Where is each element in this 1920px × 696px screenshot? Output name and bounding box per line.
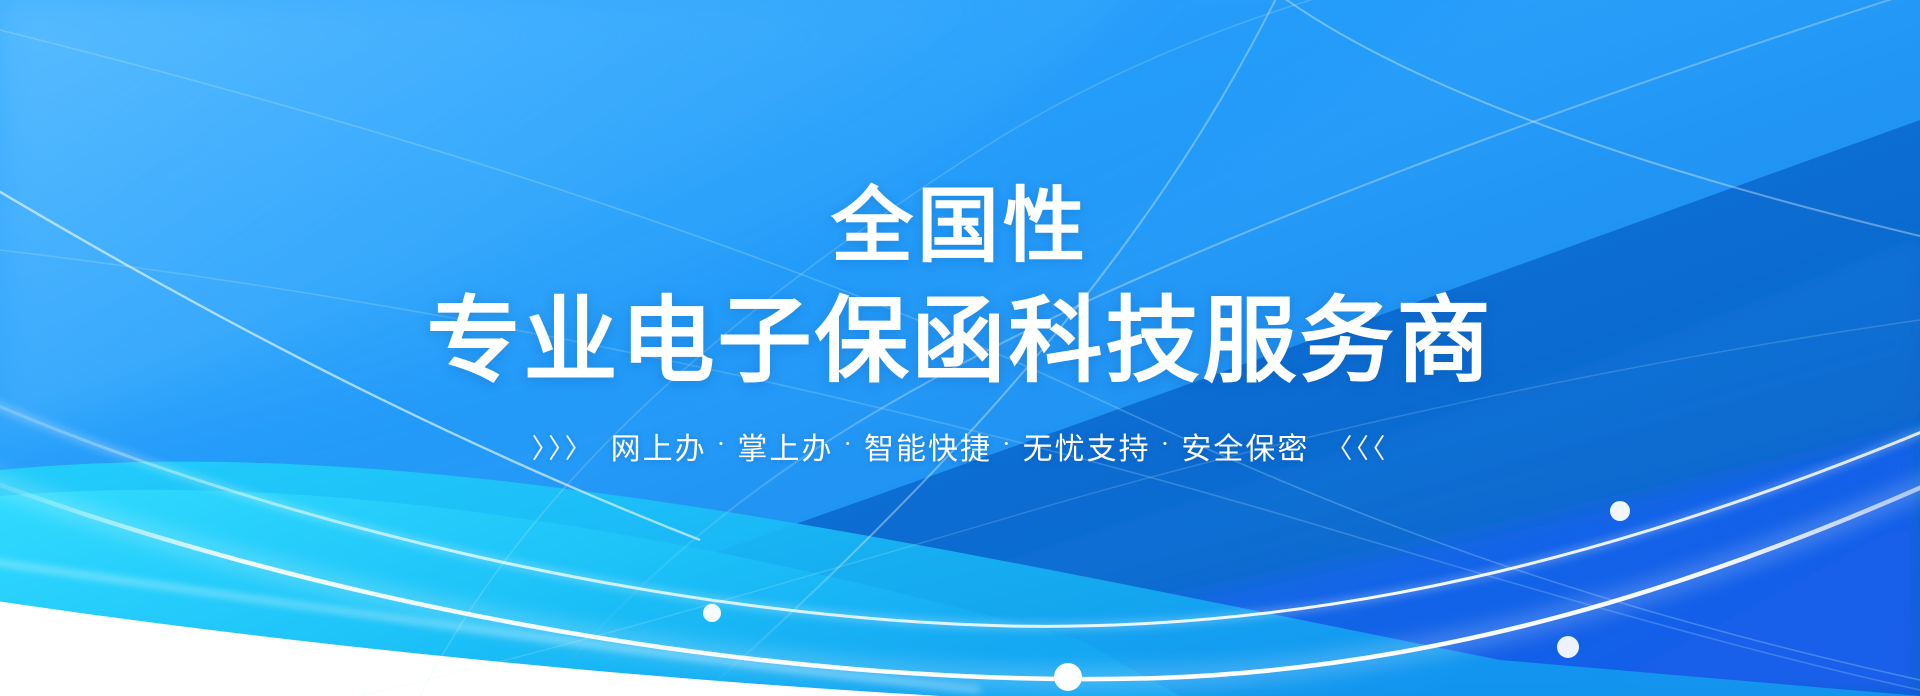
hero-banner: 全国性 专业电子保函科技服务商 〉〉〉 网上办 · 掌上办 · 智能快捷 · 无… — [0, 0, 1920, 696]
curve-dot-right — [1610, 501, 1630, 521]
curve-dot-center — [1054, 663, 1082, 691]
curve-dot-left — [703, 604, 721, 622]
curve-dot-far-right — [1557, 636, 1579, 658]
background-artwork — [0, 0, 1920, 696]
